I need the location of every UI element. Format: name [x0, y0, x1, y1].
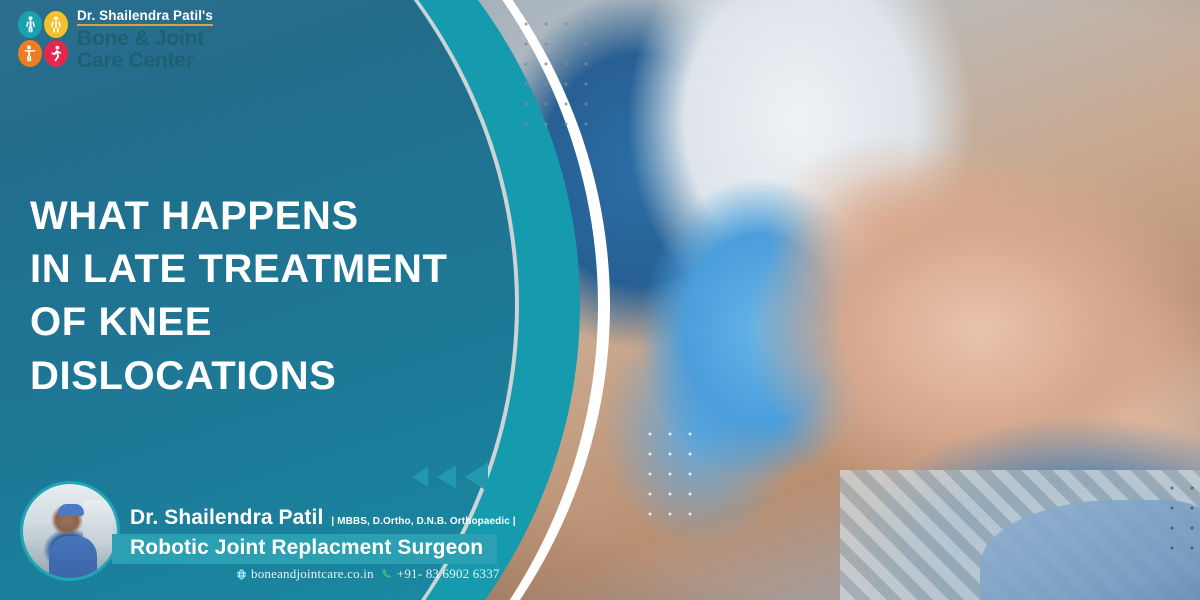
dot-grid-top-icon [516, 14, 594, 134]
phone-icon [381, 568, 393, 580]
brand-logo[interactable]: Dr. Shailendra Patil's Bone & Joint Care… [18, 8, 213, 71]
doctor-name: Dr. Shailendra Patil [130, 506, 323, 530]
logo-name-line1: Bone & Joint [77, 28, 213, 50]
left-arrow-large-icon [465, 462, 488, 492]
headline-line-3: OF KNEE [30, 296, 550, 349]
logo-mark-grid [18, 11, 68, 69]
scrubs-shape [49, 536, 97, 581]
headline-line-2: IN LATE TREATMENT [30, 243, 550, 296]
globe-icon [236, 569, 247, 580]
logo-prefix: Dr. Shailendra Patil's [77, 8, 213, 26]
headline-line-1: WHAT HAPPENS [30, 190, 550, 243]
phone-item[interactable]: +91- 83 6902 6337 [381, 566, 500, 582]
logo-name-line2: Care Center [77, 50, 213, 72]
headline-line-4: DISLOCATIONS [30, 350, 550, 403]
left-arrow-medium-icon [437, 465, 456, 489]
headline: WHAT HAPPENS IN LATE TREATMENT OF KNEE D… [30, 190, 550, 403]
phone-number: +91- 83 6902 6337 [397, 566, 500, 582]
doctor-avatar [20, 481, 120, 581]
running-figure-icon [44, 40, 68, 67]
promo-banner: Dr. Shailendra Patil's Bone & Joint Care… [0, 0, 1200, 600]
website-url: boneandjointcare.co.in [251, 566, 374, 582]
contact-info: boneandjointcare.co.in +91- 83 6902 6337 [236, 566, 500, 582]
spine-figure-icon [44, 11, 68, 38]
doctor-role: Robotic Joint Replacment Surgeon [130, 536, 483, 560]
doctor-name-line: Dr. Shailendra Patil | MBBS, D.Ortho, D.… [130, 506, 516, 530]
left-arrow-small-icon [412, 467, 428, 487]
surgical-cap-shape [58, 504, 84, 516]
arrow-decoration [412, 462, 488, 492]
crutches-figure-icon [18, 40, 42, 67]
physiotherapy-figure-icon [18, 11, 42, 38]
website-item[interactable]: boneandjointcare.co.in [236, 566, 374, 582]
doctor-credentials: | MBBS, D.Ortho, D.N.B. Orthopaedic | [331, 516, 515, 527]
dot-grid-right-icon [1162, 478, 1200, 560]
logo-wordmark: Dr. Shailendra Patil's Bone & Joint Care… [77, 8, 213, 71]
dot-grid-middle-icon [640, 424, 702, 524]
